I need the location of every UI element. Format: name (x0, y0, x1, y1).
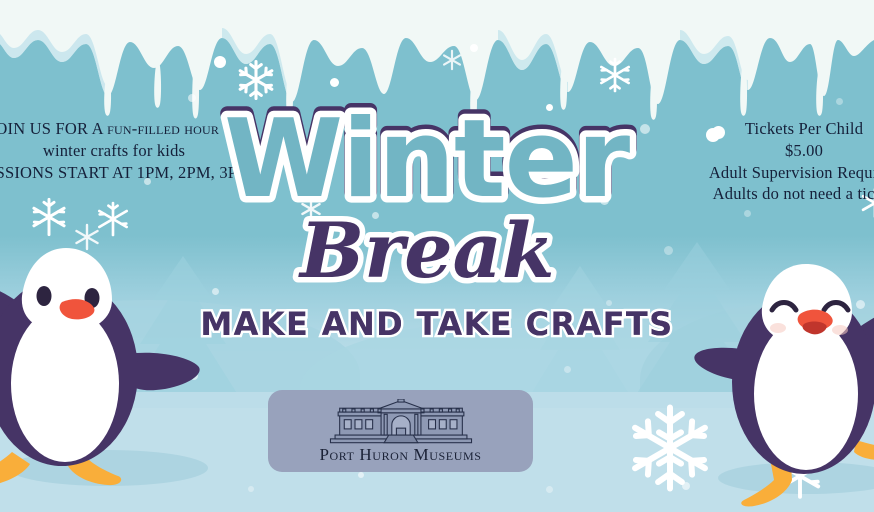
snow-dot (470, 44, 478, 52)
title-winter: Winter Winter Winter (216, 92, 666, 222)
logo-label: Port Huron Museums (319, 446, 481, 463)
port-huron-museums-logo[interactable]: Port Huron Museums (268, 390, 533, 472)
title-break: Break (290, 205, 580, 295)
snow-dot (682, 482, 690, 490)
ticket-price: $5.00 (684, 140, 874, 162)
museum-building-icon (323, 399, 479, 445)
ticket-line: Adult Supervision Required (684, 162, 874, 184)
snow-dot (664, 246, 673, 255)
snow-dot (564, 366, 571, 373)
title-break-text: Break (298, 206, 555, 295)
snow-dot (330, 78, 339, 87)
penguin-smiling-icon (696, 252, 874, 502)
snow-dot (836, 98, 843, 105)
snow-dot (358, 472, 364, 478)
ticket-line: Adults do not need a ticket (684, 183, 874, 205)
ticket-details-right: Tickets Per Child $5.00 Adult Supervisio… (684, 118, 874, 205)
snow-dot (248, 486, 254, 492)
winter-break-poster: JOIN US FOR A fun-filled hour of winter … (0, 0, 874, 512)
snow-dot (212, 288, 219, 295)
snow-dot (188, 94, 196, 102)
snowflake-icon (440, 48, 464, 72)
snow-dot (546, 486, 553, 493)
snow-dot (744, 210, 751, 217)
penguin-waving-icon (0, 222, 206, 492)
ticket-line: Tickets Per Child (684, 118, 874, 140)
snowflake-icon (596, 56, 634, 94)
snow-dot (214, 56, 226, 68)
